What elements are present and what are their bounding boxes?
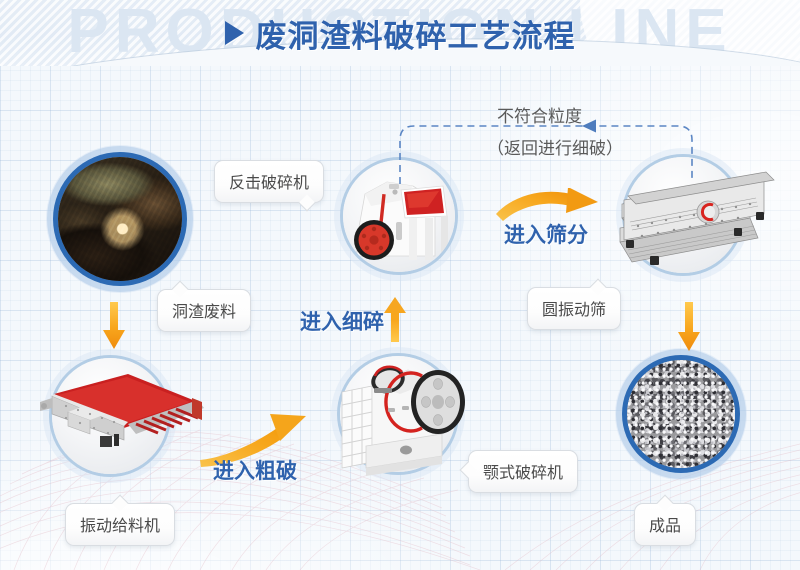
label-jaw-crusher-text: 颚式破碎机 — [483, 463, 563, 482]
label-finished-product-text: 成品 — [649, 516, 681, 535]
title-row: 废洞渣料破碎工艺流程 — [0, 0, 800, 66]
page-title: 废洞渣料破碎工艺流程 — [256, 11, 576, 56]
node-finished-product[interactable] — [627, 360, 735, 468]
node-cave-waste[interactable] — [58, 157, 182, 281]
tunnel-muck-photo — [58, 157, 182, 281]
label-cave-waste-text: 洞渣废料 — [172, 302, 236, 321]
crushed-aggregate-photo — [627, 360, 735, 468]
label-vibrating-screen: 圆振动筛 — [527, 287, 621, 330]
finished-product-circle — [627, 360, 735, 468]
arrow-down-icon — [100, 300, 128, 352]
arrow-down-icon — [675, 300, 703, 354]
label-vibrating-feeder: 振动给料机 — [65, 503, 175, 546]
return-loop-text-top: 不符合粒度 — [497, 102, 582, 127]
flow-caption-to-fine-crushing: 进入细碎 — [300, 306, 384, 336]
flow-caption-to-coarse-crushing: 进入粗破 — [213, 455, 297, 485]
label-impact-crusher-text: 反击破碎机 — [229, 173, 309, 192]
play-triangle-icon — [225, 21, 244, 45]
straight-arrow-up-icon — [381, 296, 409, 344]
label-impact-crusher: 反击破碎机 — [214, 160, 324, 203]
return-loop-text-bottom: （返回进行细破） — [487, 134, 623, 159]
label-vibrating-screen-text: 圆振动筛 — [542, 300, 606, 319]
label-vibrating-feeder-text: 振动给料机 — [80, 516, 160, 535]
flow-caption-to-screening: 进入筛分 — [504, 219, 588, 249]
jaw-crusher-machine-art — [330, 350, 490, 480]
cave-waste-circle — [58, 157, 182, 281]
vibrating-feeder-machine-art — [32, 362, 207, 472]
label-cave-waste: 洞渣废料 — [157, 289, 251, 332]
label-finished-product: 成品 — [634, 503, 696, 546]
process-flow-diagram: PRODUCTION LINE 废洞渣料破碎工艺流程 洞渣废料 — [0, 0, 800, 570]
label-jaw-crusher: 颚式破碎机 — [468, 450, 578, 493]
